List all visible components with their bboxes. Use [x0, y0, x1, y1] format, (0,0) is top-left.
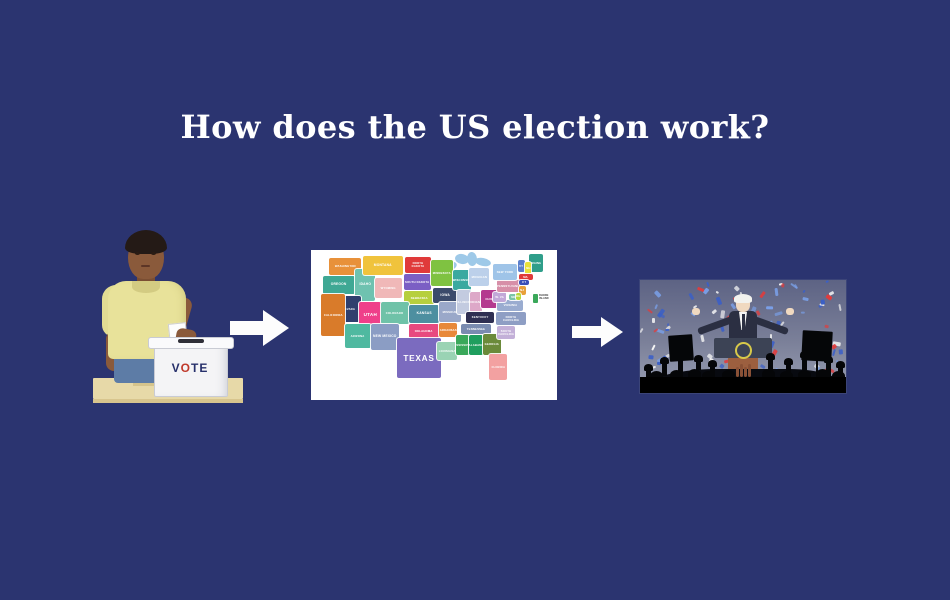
- state-michigan: MICHIGAN: [469, 268, 489, 286]
- state-vermont: VT: [518, 260, 525, 272]
- state-mississippi: MISSISSIPPI: [456, 335, 469, 355]
- state-label: COLORADO: [386, 312, 404, 315]
- confetti-piece: [774, 311, 782, 316]
- state-label: MISSISSIPPI: [456, 344, 469, 347]
- state-label: VT: [520, 265, 524, 268]
- finger: [744, 367, 747, 377]
- state-label: IDAHO: [359, 283, 371, 286]
- podium-seal-icon: [735, 342, 752, 359]
- confetti-piece: [824, 324, 828, 328]
- state-label: KANSAS: [416, 312, 431, 315]
- state-label: GEORGIA: [485, 343, 499, 346]
- confetti-piece: [802, 290, 806, 294]
- flow-arrow-1: [230, 310, 290, 346]
- confetti-piece: [733, 285, 740, 292]
- state-label: NEBRASKA: [410, 297, 427, 300]
- crowd-raised-hand: [662, 361, 667, 376]
- crowd-raised-hand: [696, 359, 701, 370]
- crowd-raised-hand: [786, 362, 791, 373]
- state-kansas: KANSAS: [409, 305, 439, 323]
- state-illinois: ILLINOIS: [457, 290, 471, 314]
- table-edge: [93, 399, 243, 403]
- state-label: NORTH DAKOTA: [406, 262, 430, 268]
- state-label: NJ: [521, 289, 525, 292]
- state-label: SOUTH DAKOTA: [405, 281, 429, 284]
- confetti-piece: [774, 288, 778, 296]
- finger: [740, 364, 743, 377]
- crowd-raised-hand: [838, 365, 843, 376]
- state-minnesota: MINNESOTA: [431, 260, 453, 286]
- state-label: CALIFORNIA: [324, 314, 343, 317]
- confetti-piece: [688, 293, 694, 301]
- state-arkansas: ARKANSAS: [439, 323, 457, 337]
- state-label: ALABAMA: [469, 344, 483, 347]
- state-label: ILLINOIS: [457, 301, 470, 304]
- arrow-head: [601, 317, 623, 347]
- speaker-arm-right: [753, 316, 789, 335]
- state-north-carolina: NORTH CAROLINA: [496, 312, 526, 325]
- us-states-map: WASHINGTONOREGONIDAHOMONTANAWYOMINGNORTH…: [311, 250, 557, 400]
- state-label: OHIO: [485, 298, 493, 301]
- state-label: IOWA: [440, 294, 450, 297]
- vote-label-v: V: [172, 361, 181, 375]
- speaker-arm-left: [697, 316, 733, 335]
- state-label: W. VA: [495, 296, 504, 299]
- state-tennessee: TENNESSEE: [461, 324, 491, 334]
- vote-label-te: TE: [191, 361, 208, 375]
- confetti-piece: [654, 290, 662, 298]
- confetti-piece: [652, 318, 655, 323]
- state-new-mexico: NEW MEXICO: [371, 324, 399, 350]
- state-label: MINNESOTA: [433, 272, 451, 275]
- state-oklahoma: OKLAHOMA: [409, 324, 439, 338]
- speaker-hand-right: [786, 308, 794, 315]
- state-west-virginia: W. VA: [493, 292, 506, 302]
- confetti-piece: [801, 312, 805, 314]
- state-louisiana: LOUISIANA: [437, 342, 457, 360]
- state-new-york: NEW YORK: [493, 264, 517, 280]
- confetti-piece: [829, 290, 835, 295]
- state-delaware: DE: [516, 293, 521, 300]
- ballot-box-label: VOTE: [154, 361, 226, 375]
- state-label: WYOMING: [381, 287, 396, 290]
- confetti-piece: [696, 286, 704, 292]
- state-label: MONTANA: [374, 264, 392, 267]
- state-label: MISSOURI: [442, 311, 457, 314]
- state-pennsylvania: PENNSYLVANIA: [497, 280, 521, 292]
- voter-collar: [132, 281, 160, 293]
- arrow-head: [263, 310, 289, 346]
- state-label: ARKANSAS: [439, 329, 456, 332]
- rhode-island-inset: RHODE ISLAND: [533, 294, 553, 308]
- vote-label-o: O: [181, 361, 191, 375]
- rally-scene: [640, 280, 846, 393]
- state-kentucky: KENTUCKY: [466, 312, 494, 323]
- voter-mouth: [141, 265, 150, 267]
- state-california: CALIFORNIA: [321, 294, 345, 336]
- state-south-dakota: SOUTH DAKOTA: [404, 274, 431, 290]
- protest-sign-right: [801, 330, 833, 362]
- ballot-box-slot: [178, 339, 204, 343]
- speaker-hand-left: [692, 308, 700, 315]
- state-label: NEW YORK: [497, 271, 514, 274]
- confetti-piece: [825, 280, 829, 283]
- state-label: MAINE: [531, 262, 541, 265]
- state-oregon: OREGON: [323, 276, 355, 294]
- confetti-piece: [803, 297, 810, 301]
- crowd-silhouette-base: [640, 377, 846, 393]
- state-label: VIRGINIA: [503, 304, 517, 307]
- state-new-hampshire: NH: [525, 262, 531, 274]
- state-maine: MAINE: [529, 254, 543, 272]
- state-label: SOUTH CAROLINA: [498, 330, 515, 336]
- state-label: KENTUCKY: [472, 316, 489, 319]
- state-label: TENNESSEE: [467, 328, 485, 331]
- confetti-piece: [839, 304, 843, 311]
- speaker-hair: [734, 294, 752, 303]
- state-label: OREGON: [331, 283, 347, 286]
- state-wyoming: WYOMING: [375, 278, 402, 298]
- state-iowa: IOWA: [433, 288, 457, 303]
- state-texas: TEXAS: [397, 338, 441, 378]
- finger: [748, 364, 751, 377]
- confetti-piece: [839, 349, 843, 355]
- state-montana: MONTANA: [363, 256, 403, 275]
- state-label: NH: [526, 267, 530, 270]
- state-florida: FLORIDA: [489, 354, 507, 380]
- state-label: ARIZONA: [351, 335, 365, 338]
- page-title: How does the US election work?: [0, 108, 950, 146]
- state-alabama: ALABAMA: [469, 335, 483, 355]
- state-north-dakota: NORTH DAKOTA: [405, 257, 431, 273]
- voter-eye-right: [151, 252, 156, 255]
- state-label: NORTH CAROLINA: [497, 316, 525, 322]
- state-label: NEW MEXICO: [373, 335, 397, 338]
- confetti-piece: [700, 335, 704, 343]
- speaker-tie: [742, 314, 745, 330]
- confetti-piece: [782, 283, 785, 287]
- confetti-piece: [821, 300, 825, 305]
- state-label: OKLAHOMA: [415, 330, 433, 333]
- confetti-piece: [648, 355, 653, 359]
- confetti-piece: [719, 363, 725, 369]
- rhode-island-shape: [533, 294, 538, 303]
- crowd-raised-hand: [768, 357, 773, 376]
- confetti-piece: [650, 344, 655, 350]
- state-connecticut: CT: [519, 280, 529, 285]
- confetti-piece: [654, 304, 658, 310]
- state-label: CT: [522, 281, 526, 284]
- state-label: DE: [516, 295, 520, 298]
- protest-sign-left: [668, 334, 694, 362]
- state-south-carolina: SOUTH CAROLINA: [497, 326, 515, 339]
- confetti-piece: [667, 323, 670, 327]
- rhode-island-label: RHODE ISLAND: [539, 295, 553, 301]
- state-label: FLORIDA: [491, 366, 505, 369]
- slide-canvas: How does the US election work? VOTE: [0, 0, 950, 600]
- confetti-piece: [639, 328, 644, 333]
- arrow-shaft: [230, 321, 264, 335]
- voter-hair: [125, 230, 167, 254]
- voter-casting-ballot-illustration: VOTE: [88, 225, 248, 405]
- state-label: UTAH: [363, 313, 377, 318]
- lake-4: [474, 256, 491, 267]
- state-label: MICHIGAN: [471, 276, 486, 279]
- finger: [736, 367, 739, 377]
- state-label: LOUISIANA: [439, 350, 456, 353]
- state-arizona: ARIZONA: [345, 324, 371, 348]
- confetti-piece: [647, 309, 653, 314]
- state-label: WASHINGTON: [335, 265, 356, 268]
- state-label: MA: [524, 276, 529, 279]
- speaker-hands-on-podium: [736, 361, 752, 377]
- confetti-piece: [706, 282, 709, 287]
- state-label: TEXAS: [403, 354, 434, 362]
- flow-arrow-2: [572, 317, 624, 347]
- arrow-shaft: [572, 326, 602, 338]
- confetti-piece: [666, 329, 670, 331]
- state-colorado: COLORADO: [381, 302, 409, 324]
- voter-eye-left: [135, 252, 140, 255]
- victory-rally-illustration: [639, 279, 847, 394]
- state-label: PENNSYLVANIA: [497, 285, 520, 288]
- speaker-figure: [712, 296, 774, 342]
- confetti-piece: [715, 291, 719, 295]
